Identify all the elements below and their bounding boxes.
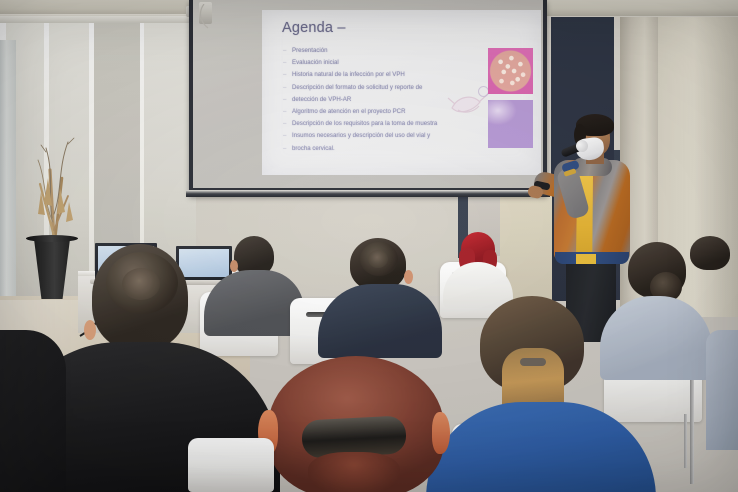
audience-member-a3 bbox=[336, 236, 426, 346]
chair-leg bbox=[690, 380, 694, 484]
photo-scene: Agenda – Presentación Evaluación inicial… bbox=[0, 0, 738, 492]
blind-headrail bbox=[0, 16, 196, 23]
chair bbox=[188, 438, 274, 492]
projection-screen-weight-bar bbox=[186, 190, 550, 197]
hpv-virion-image bbox=[488, 48, 533, 94]
hair-lower bbox=[308, 452, 400, 492]
planter-rim bbox=[26, 235, 78, 242]
audience-member-a2 bbox=[218, 236, 292, 332]
slide-title: Agenda – bbox=[282, 20, 346, 36]
audience-member-a6 bbox=[450, 296, 640, 492]
audience-member-partial-right-body bbox=[706, 330, 738, 450]
audience-member-a5 bbox=[449, 232, 505, 302]
audience-member-partial-left bbox=[0, 330, 60, 492]
cervical-histology-image bbox=[488, 100, 533, 148]
presenter-shirt-hem bbox=[576, 254, 596, 264]
window-edge bbox=[0, 40, 16, 318]
audience-member-partial-right bbox=[690, 236, 738, 306]
screen-pull-cord bbox=[196, 4, 222, 32]
dried-branches bbox=[24, 118, 86, 240]
audience-member-a4 bbox=[246, 356, 462, 492]
